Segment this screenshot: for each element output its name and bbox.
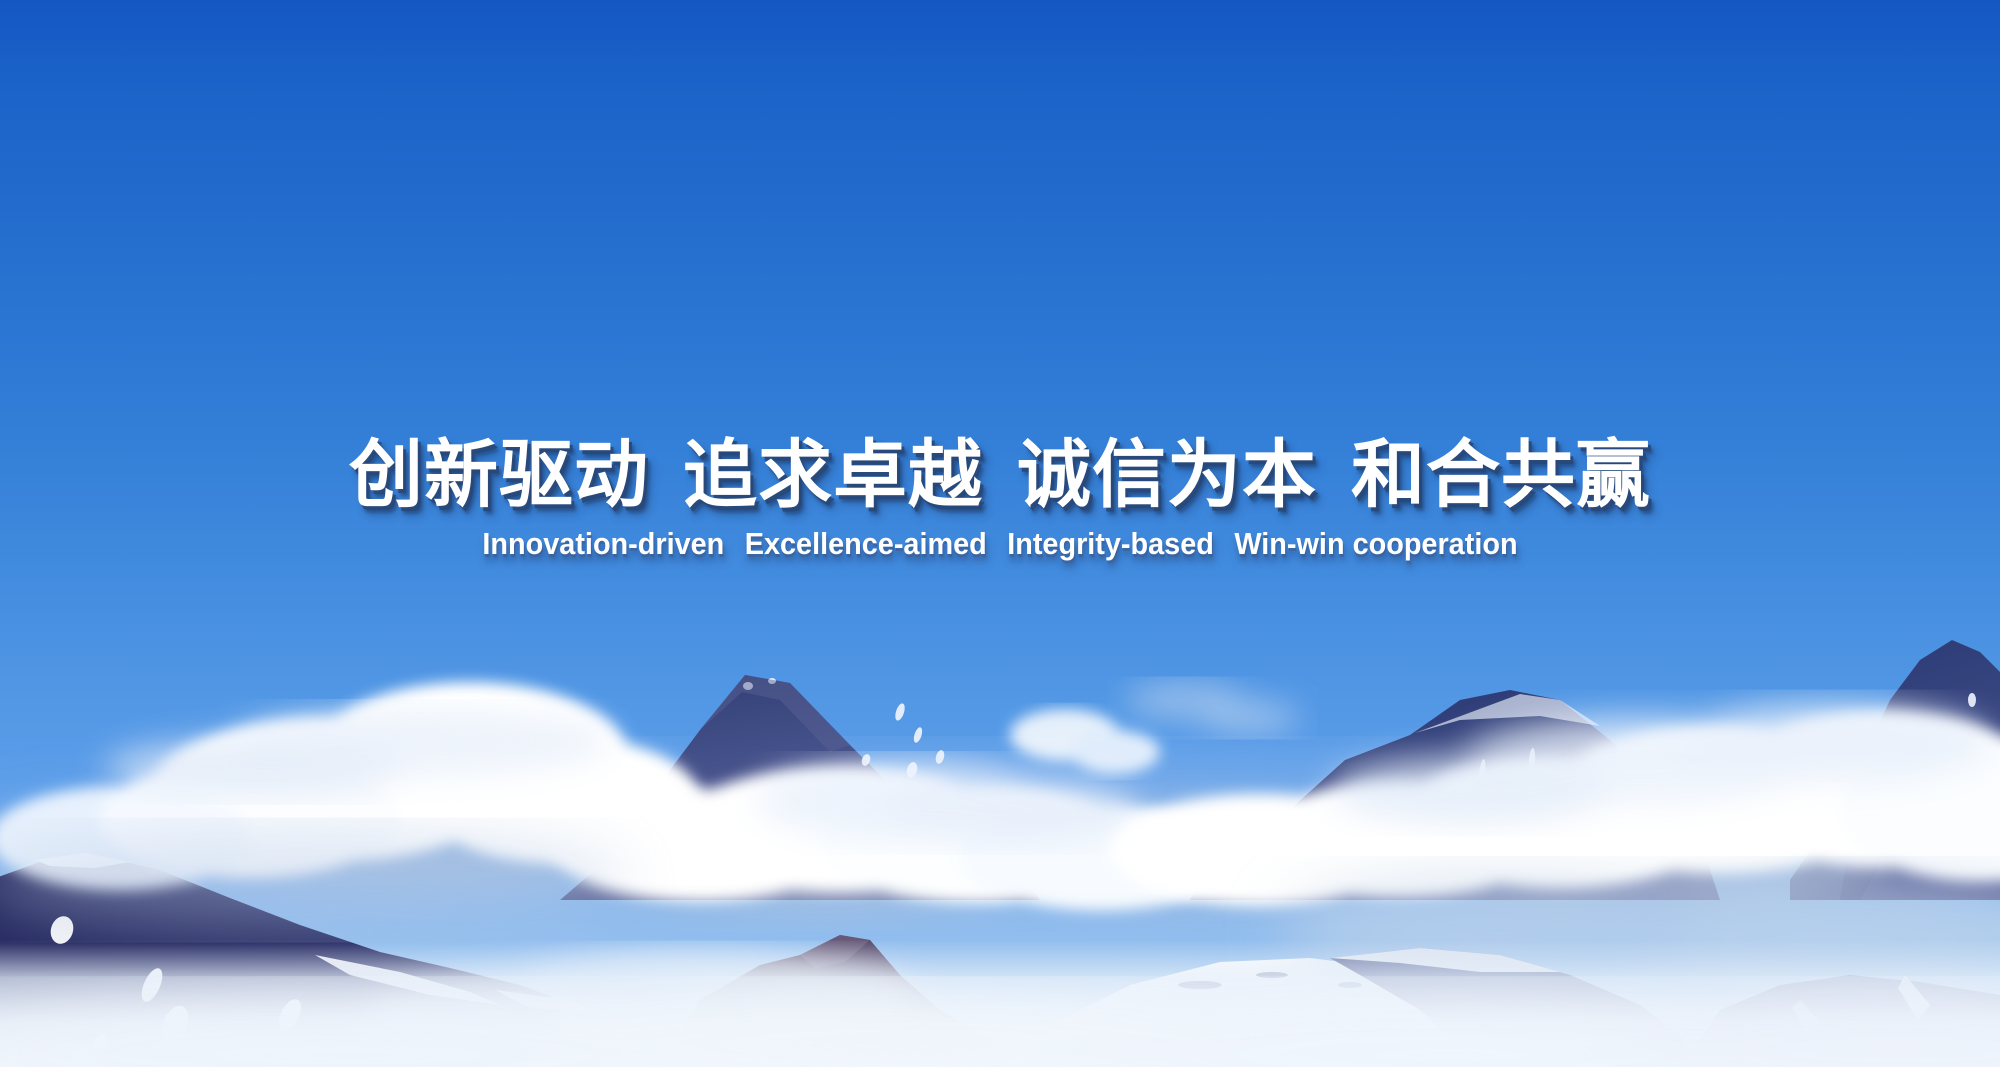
slogan-block: 创新驱动追求卓越诚信为本和合共赢 Innovation-drivenExcell… xyxy=(0,438,2000,559)
slogan-en-1: Innovation-driven xyxy=(482,526,724,561)
slogan-en-3: Integrity-based xyxy=(1007,526,1214,561)
slogan-chinese-line: 创新驱动追求卓越诚信为本和合共赢 xyxy=(0,438,2000,512)
slogan-cn-1: 创新驱动 xyxy=(349,433,649,516)
slogan-en-4: Win-win cooperation xyxy=(1234,526,1517,561)
slogan-cn-4: 和合共赢 xyxy=(1351,433,1651,516)
banner-stage: 创新驱动追求卓越诚信为本和合共赢 Innovation-drivenExcell… xyxy=(0,0,2000,1067)
slogan-english-line: Innovation-drivenExcellence-aimedIntegri… xyxy=(70,528,1930,559)
slogan-en-2: Excellence-aimed xyxy=(745,526,987,561)
left-ridge-haze xyxy=(0,828,630,932)
slogan-cn-3: 诚信为本 xyxy=(1017,433,1317,516)
slogan-cn-2: 追求卓越 xyxy=(683,433,983,516)
